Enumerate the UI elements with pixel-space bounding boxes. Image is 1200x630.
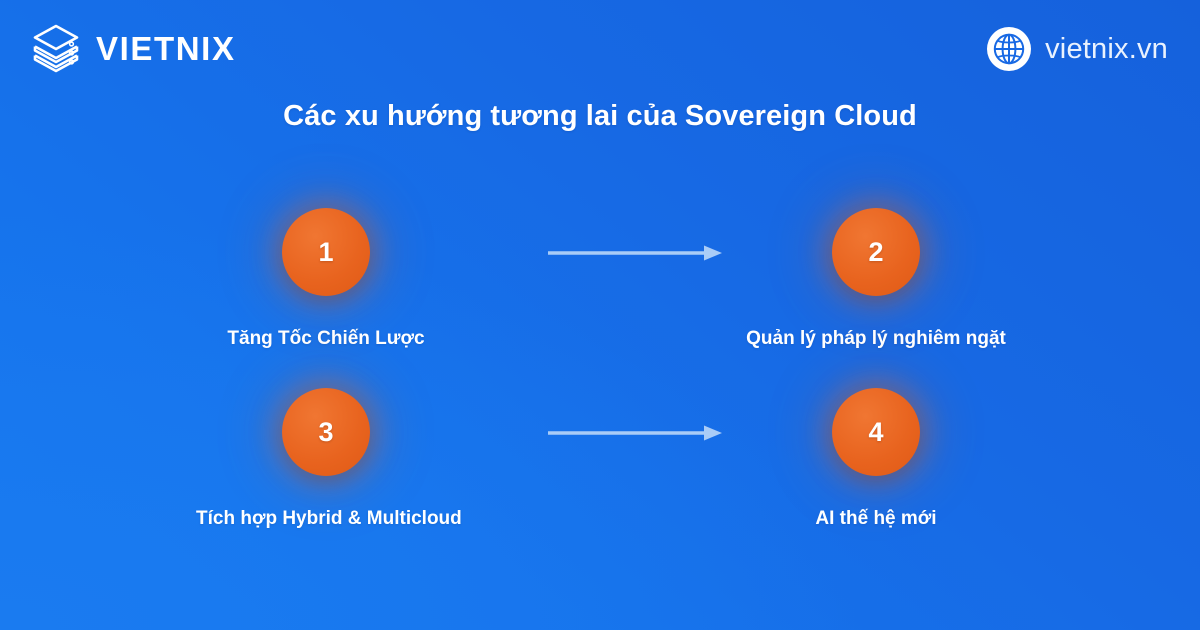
connector-1-to-2: [548, 244, 724, 262]
flow-node-3[interactable]: 3 Tích hợp Hybrid & Multicloud: [196, 388, 456, 531]
arrow-right-icon: [548, 424, 724, 442]
flow-node-2[interactable]: 2 Quản lý pháp lý nghiêm ngặt: [746, 208, 1006, 351]
node-label: Tích hợp Hybrid & Multicloud: [196, 507, 456, 531]
node-label: AI thế hệ mới: [746, 507, 1006, 531]
arrow-right-icon: [548, 244, 724, 262]
node-label: Tăng Tốc Chiến Lược: [196, 327, 456, 351]
node-bubble: 2: [832, 208, 920, 296]
infographic-canvas: VIETNIX vietnix.vn Các xu hướng tương la…: [0, 0, 1200, 630]
node-bubble: 4: [832, 388, 920, 476]
node-number: 4: [868, 419, 883, 446]
connector-3-to-4: [548, 424, 724, 442]
flow-diagram: 1 Tăng Tốc Chiến Lược 2 Quản lý pháp lý …: [0, 0, 1200, 630]
node-label: Quản lý pháp lý nghiêm ngặt: [746, 327, 1006, 351]
node-number: 1: [318, 239, 333, 266]
node-number: 3: [318, 419, 333, 446]
flow-node-4[interactable]: 4 AI thế hệ mới: [746, 388, 1006, 531]
node-number: 2: [868, 239, 883, 266]
node-bubble: 1: [282, 208, 370, 296]
node-bubble: 3: [282, 388, 370, 476]
flow-node-1[interactable]: 1 Tăng Tốc Chiến Lược: [196, 208, 456, 351]
